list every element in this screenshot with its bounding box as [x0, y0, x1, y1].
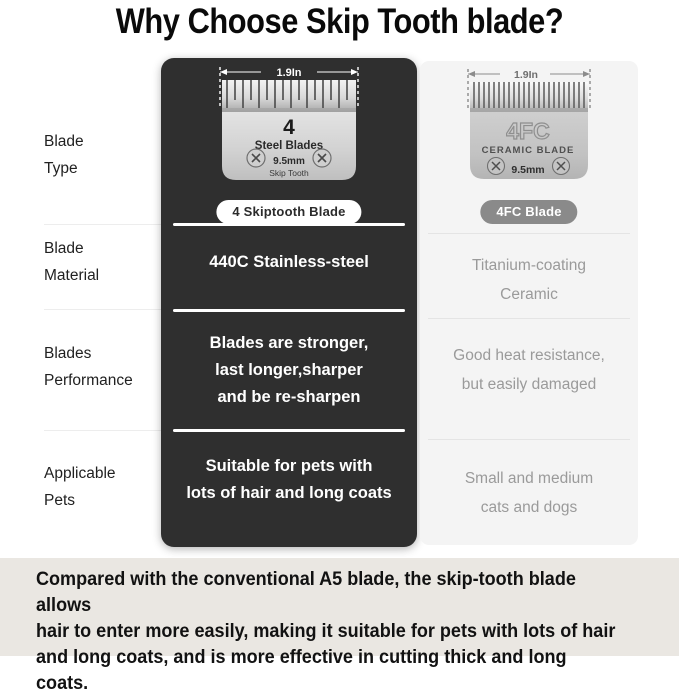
- cell-divider: [173, 223, 405, 226]
- row-label-applicable-pets: Applicable Pets: [44, 460, 164, 514]
- summary-banner: Compared with the conventional A5 blade,…: [0, 558, 679, 656]
- svg-text:1.9In: 1.9In: [276, 67, 301, 79]
- svg-text:1.9In: 1.9In: [514, 69, 538, 81]
- highlight-applicable-pets: Suitable for pets with lots of hair and …: [161, 453, 417, 507]
- text-line: but easily damaged: [430, 370, 628, 399]
- page-title: Why Choose Skip Tooth blade?: [41, 2, 639, 42]
- cell-divider: [428, 439, 630, 440]
- text-line: and be re-sharpen: [171, 384, 407, 411]
- row-label-line: Blade: [44, 235, 164, 262]
- cell-divider: [428, 318, 630, 319]
- text-line: last longer,sharper: [171, 357, 407, 384]
- blade-subtitle: CERAMIC BLADE: [482, 145, 575, 156]
- highlight-column-card: 1.9In 4: [161, 58, 417, 547]
- blade-size: 9.5mm: [511, 164, 544, 176]
- row-label-blades-performance: Blades Performance: [44, 340, 164, 394]
- screw-icon: [247, 149, 265, 167]
- text-line: cats and dogs: [430, 493, 628, 522]
- row-label-line: Blade: [44, 128, 164, 155]
- screw-icon: [488, 158, 505, 175]
- text-line: Blades are stronger,: [171, 330, 407, 357]
- screw-icon: [553, 158, 570, 175]
- blade-subtitle: Steel Blades: [255, 140, 323, 152]
- text-line: Suitable for pets with: [171, 453, 407, 480]
- row-label-line: Material: [44, 262, 164, 289]
- row-divider: [44, 224, 161, 225]
- row-divider: [44, 430, 161, 431]
- row-label-blade-material: Blade Material: [44, 235, 164, 289]
- row-divider: [44, 309, 161, 310]
- row-label-blade-type: Blade Type: [44, 128, 164, 182]
- compare-blade-performance: Good heat resistance, but easily damaged: [420, 341, 638, 399]
- row-label-line: Pets: [44, 487, 164, 514]
- text-line: Good heat resistance,: [430, 341, 628, 370]
- text-line: Small and medium: [430, 464, 628, 493]
- compare-blade-pill-label: 4FC Blade: [480, 200, 577, 224]
- blade-size: 9.5mm: [273, 156, 305, 167]
- compare-blade-material: Titanium-coating Ceramic: [420, 251, 638, 309]
- comparison-table: Blade Type Blade Material Blades Perform…: [0, 52, 679, 552]
- summary-banner-text: Compared with the conventional A5 blade,…: [36, 567, 616, 697]
- text-line: 440C Stainless-steel: [171, 249, 407, 276]
- row-label-line: Performance: [44, 367, 164, 394]
- cell-divider: [173, 309, 405, 312]
- fc-blade-image: 1.9In: [420, 61, 638, 209]
- row-label-line: Type: [44, 155, 164, 182]
- skiptooth-blade-figure: 1.9In 4: [161, 58, 417, 216]
- row-label-line: Applicable: [44, 460, 164, 487]
- text-line: and long coats, and is more effective in…: [36, 645, 616, 697]
- text-line: hair to enter more easily, making it sui…: [36, 619, 616, 645]
- blade-number: 4FC: [506, 118, 549, 144]
- text-line: lots of hair and long coats: [171, 480, 407, 507]
- cell-divider: [428, 233, 630, 234]
- compare-column-card: 1.9In: [420, 61, 638, 545]
- skiptooth-blade-image: 1.9In 4: [161, 58, 417, 208]
- blade-tooth-type: Skip Tooth: [269, 168, 309, 178]
- compare-applicable-pets: Small and medium cats and dogs: [420, 464, 638, 522]
- highlight-blade-performance: Blades are stronger, last longer,sharper…: [161, 330, 417, 411]
- row-label-column: Blade Type Blade Material Blades Perform…: [0, 52, 161, 547]
- highlight-blade-material: 440C Stainless-steel: [161, 249, 417, 276]
- highlight-blade-pill-label: 4 Skiptooth Blade: [216, 200, 361, 224]
- text-line: Compared with the conventional A5 blade,…: [36, 567, 616, 619]
- screw-icon: [313, 149, 331, 167]
- fc-blade-figure: 1.9In: [420, 61, 638, 219]
- row-label-line: Blades: [44, 340, 164, 367]
- cell-divider: [173, 429, 405, 432]
- text-line: Ceramic: [430, 280, 628, 309]
- blade-number: 4: [283, 116, 295, 139]
- text-line: Titanium-coating: [430, 251, 628, 280]
